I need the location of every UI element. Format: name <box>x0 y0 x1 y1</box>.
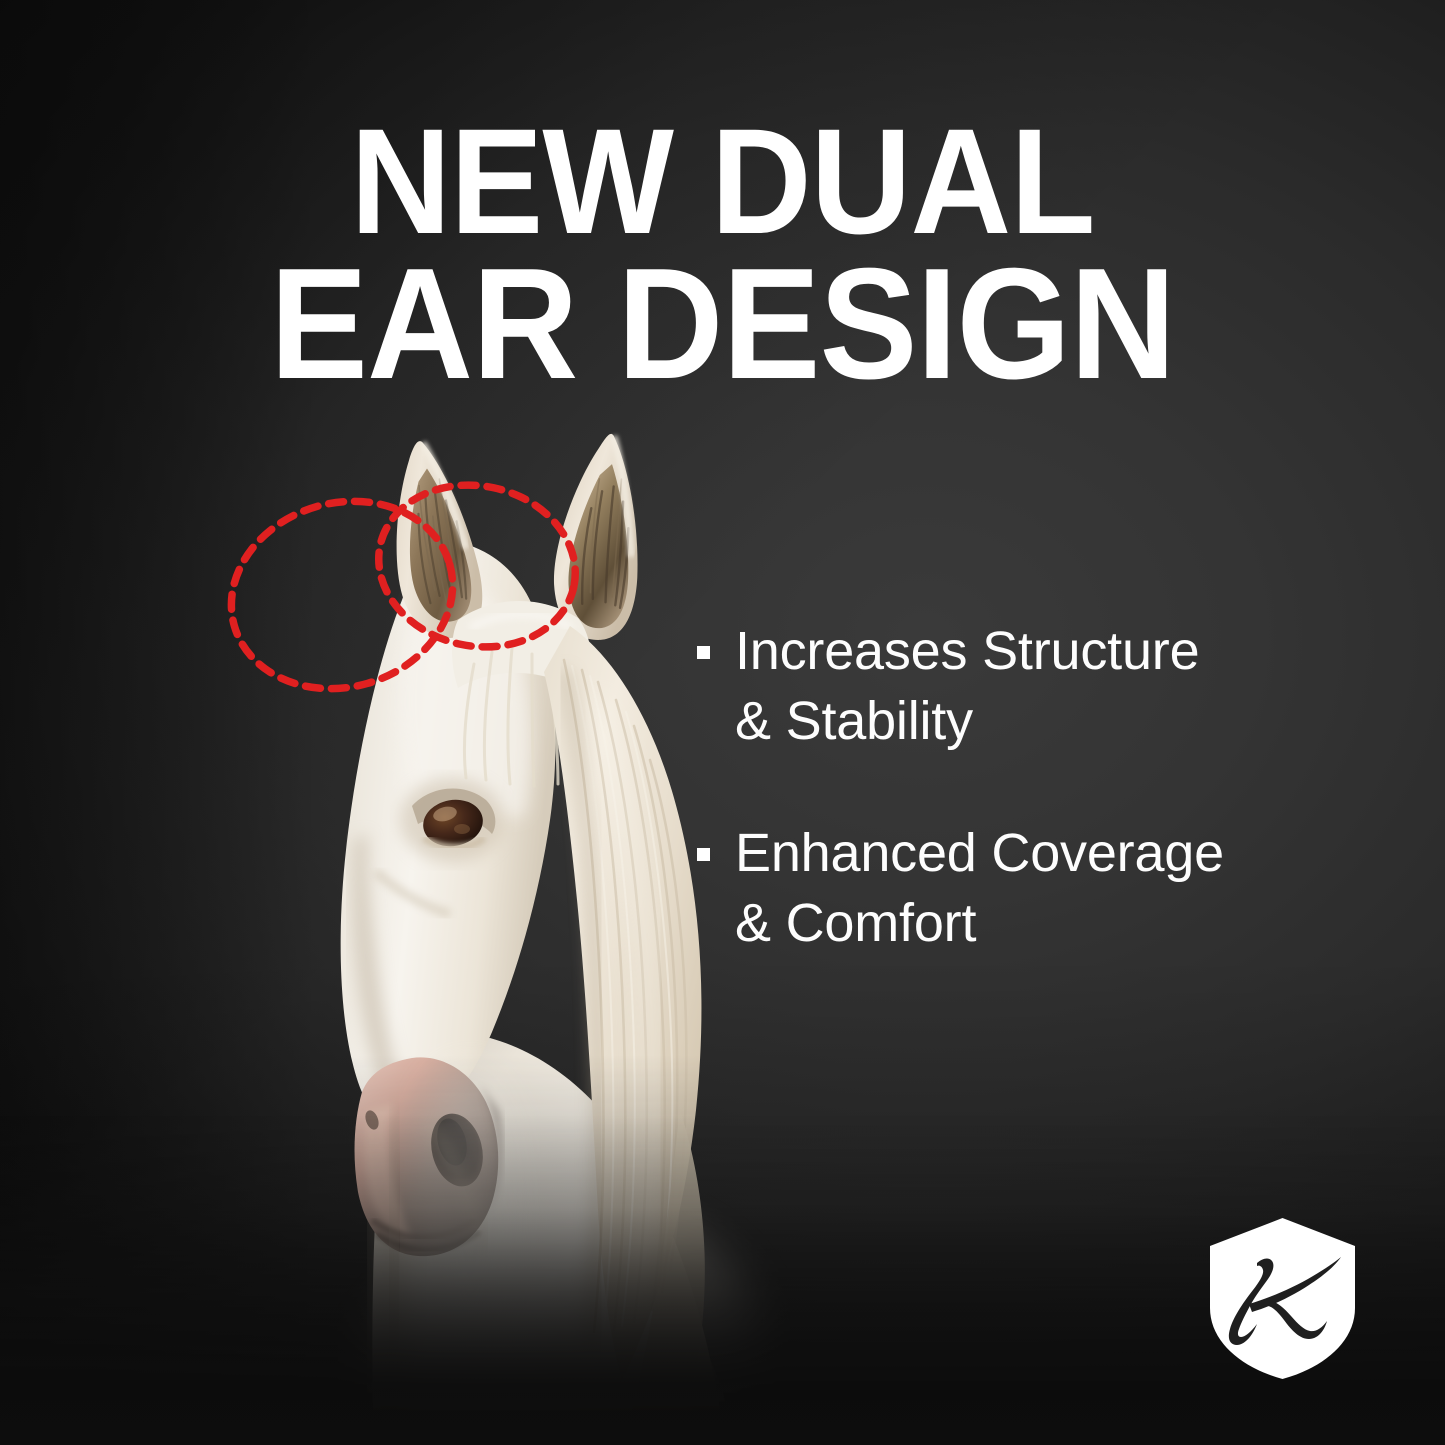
feature-text: Enhanced Coverage & Comfort <box>735 818 1224 958</box>
feature-list: Increases Structure & Stability Enhanced… <box>697 616 1377 1020</box>
square-bullet-icon <box>697 646 710 659</box>
page-title: NEW DUAL EAR DESIGN <box>0 110 1445 396</box>
list-item: Increases Structure & Stability <box>697 616 1377 756</box>
headline-line-1: NEW DUAL <box>51 110 1395 253</box>
marketing-banner: NEW DUAL EAR DESIGN Increases Structure … <box>0 0 1445 1445</box>
square-bullet-icon <box>697 848 710 861</box>
feature-text: Increases Structure & Stability <box>735 616 1199 756</box>
headline-line-2: EAR DESIGN <box>51 253 1395 396</box>
brand-logo <box>1205 1216 1360 1381</box>
list-item: Enhanced Coverage & Comfort <box>697 818 1377 958</box>
